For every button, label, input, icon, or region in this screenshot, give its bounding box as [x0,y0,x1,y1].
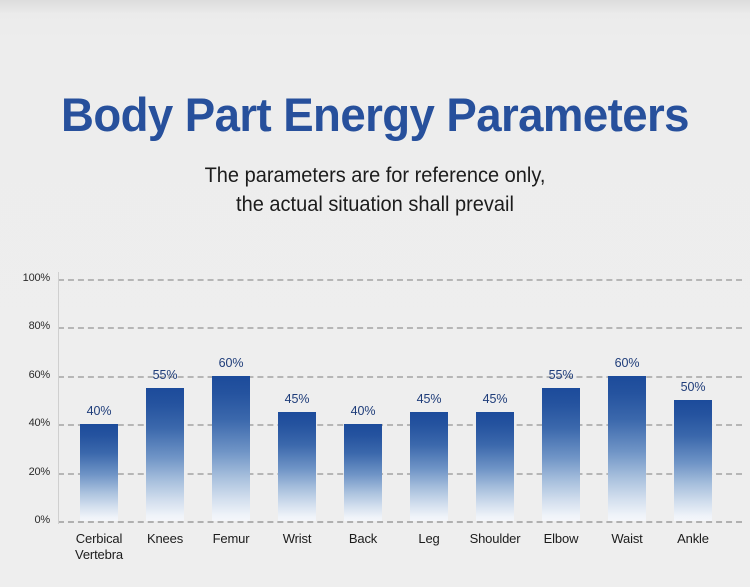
bar-value-label: 55% [132,369,198,382]
bar[interactable] [344,424,382,521]
chart-poster: Body Part Energy Parameters The paramete… [0,0,750,587]
bar[interactable] [608,376,646,521]
bar-group[interactable]: 40%CerbicalVertebra [66,0,132,587]
bar-value-label: 50% [660,381,726,394]
bar-value-label: 45% [462,393,528,406]
bar[interactable] [146,388,184,521]
bar-value-label: 45% [396,393,462,406]
bar[interactable] [410,412,448,521]
bar[interactable] [674,400,712,521]
bar-group[interactable]: 45%Wrist [264,0,330,587]
bar-value-label: 40% [330,405,396,418]
bar-group[interactable]: 55%Elbow [528,0,594,587]
bar-chart: 0%20%40%60%80%100% 40%CerbicalVertebra55… [0,0,750,587]
x-axis-category-label-line: Ankle [651,531,735,547]
bar[interactable] [476,412,514,521]
bar-value-label: 45% [264,393,330,406]
x-axis-category-label: Ankle [651,531,735,547]
bar-group[interactable]: 55%Knees [132,0,198,587]
bar-group[interactable]: 40%Back [330,0,396,587]
bar[interactable] [80,424,118,521]
bar-group[interactable]: 50%Ankle [660,0,726,587]
bar-group[interactable]: 45%Leg [396,0,462,587]
bar[interactable] [278,412,316,521]
bar-group[interactable]: 60%Waist [594,0,660,587]
x-axis-category-label-line: Vertebra [57,547,141,563]
bar-group[interactable]: 60%Femur [198,0,264,587]
bar-value-label: 55% [528,369,594,382]
bar-value-label: 60% [198,357,264,370]
bar-value-label: 60% [594,357,660,370]
bar[interactable] [212,376,250,521]
bar-series: 40%CerbicalVertebra55%Knees60%Femur45%Wr… [0,0,750,587]
bar-value-label: 40% [66,405,132,418]
bar-group[interactable]: 45%Shoulder [462,0,528,587]
bar[interactable] [542,388,580,521]
